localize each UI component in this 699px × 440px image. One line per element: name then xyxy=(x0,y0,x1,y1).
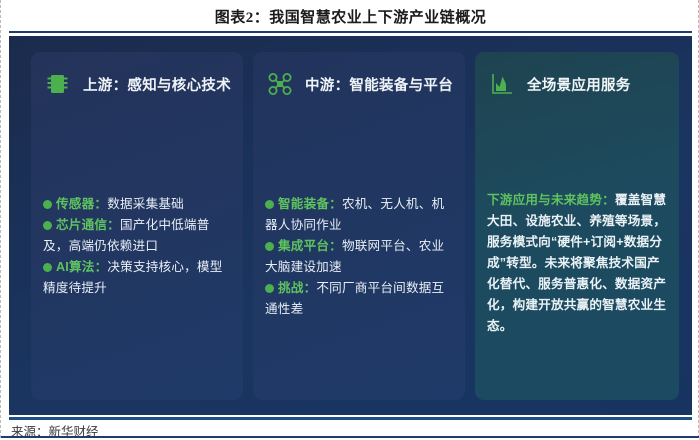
bullet-dot-icon xyxy=(265,284,274,293)
list-item: 智能装备：农机、无人机、机器人协同作业 xyxy=(265,194,453,236)
bullet-dot-icon xyxy=(43,200,52,209)
chart-figure: 图表2：我国智慧农业上下游产业链概况 上游：感知与核心技术 xyxy=(0,0,699,438)
bullet-dot-icon xyxy=(43,221,52,230)
industry-chain-panel: 上游：感知与核心技术 传感器：数据采集基础 芯片通信：国产化中低端普及，高端仍依… xyxy=(9,36,692,415)
panel-bottom-divider xyxy=(9,417,692,420)
item-label: 传感器： xyxy=(56,197,107,211)
card-downstream-header: 全场景应用服务 xyxy=(489,66,667,102)
card-midstream-title: 中游：智能装备与平台 xyxy=(305,74,453,95)
item-label: AI算法： xyxy=(56,260,107,274)
page-title: 图表2：我国智慧农业上下游产业链概况 xyxy=(1,6,699,27)
card-downstream-body: 下游应用与未来趋势：覆盖智慧大田、设施农业、养殖等场景，服务模式向“硬件+订阅+… xyxy=(487,190,667,337)
list-item: 传感器：数据采集基础 xyxy=(43,194,231,215)
list-item: 芯片通信：国产化中低端普及，高端仍依赖进口 xyxy=(43,215,231,257)
paragraph-text: 覆盖智慧大田、设施农业、养殖等场景，服务模式向“硬件+订阅+数据分成”转型。未来… xyxy=(487,193,666,333)
item-label: 挑战： xyxy=(278,281,316,295)
item-label: 集成平台： xyxy=(278,239,342,253)
bullet-dot-icon xyxy=(43,263,52,272)
bullet-dot-icon xyxy=(265,242,274,251)
item-label: 智能装备： xyxy=(278,197,342,211)
paragraph-label: 下游应用与未来趋势： xyxy=(487,193,615,207)
card-midstream-body: 智能装备：农机、无人机、机器人协同作业 集成平台：物联网平台、农业大脑建设加速 … xyxy=(265,194,453,320)
card-midstream[interactable]: 中游：智能装备与平台 智能装备：农机、无人机、机器人协同作业 集成平台：物联网平… xyxy=(253,52,465,400)
list-item: 集成平台：物联网平台、农业大脑建设加速 xyxy=(265,236,453,278)
card-downstream-title: 全场景应用服务 xyxy=(527,74,631,95)
card-upstream-title: 上游：感知与核心技术 xyxy=(83,74,231,95)
item-text: 数据采集基础 xyxy=(107,197,184,211)
trend-chart-icon xyxy=(489,71,515,97)
chip-icon xyxy=(45,71,71,97)
title-divider xyxy=(9,31,692,33)
card-upstream-body: 传感器：数据采集基础 芯片通信：国产化中低端普及，高端仍依赖进口 AI算法：决策… xyxy=(43,194,231,299)
list-item: AI算法：决策支持核心，模型精度待提升 xyxy=(43,257,231,299)
card-container: 上游：感知与核心技术 传感器：数据采集基础 芯片通信：国产化中低端普及，高端仍依… xyxy=(31,52,679,400)
drone-icon xyxy=(267,71,293,97)
card-upstream[interactable]: 上游：感知与核心技术 传感器：数据采集基础 芯片通信：国产化中低端普及，高端仍依… xyxy=(31,52,243,400)
card-downstream[interactable]: 全场景应用服务 下游应用与未来趋势：覆盖智慧大田、设施农业、养殖等场景，服务模式… xyxy=(475,52,679,400)
bullet-dot-icon xyxy=(265,200,274,209)
card-upstream-header: 上游：感知与核心技术 xyxy=(45,66,231,102)
list-item: 挑战：不同厂商平台间数据互通性差 xyxy=(265,278,453,320)
card-midstream-header: 中游：智能装备与平台 xyxy=(267,66,453,102)
item-label: 芯片通信： xyxy=(56,218,120,232)
